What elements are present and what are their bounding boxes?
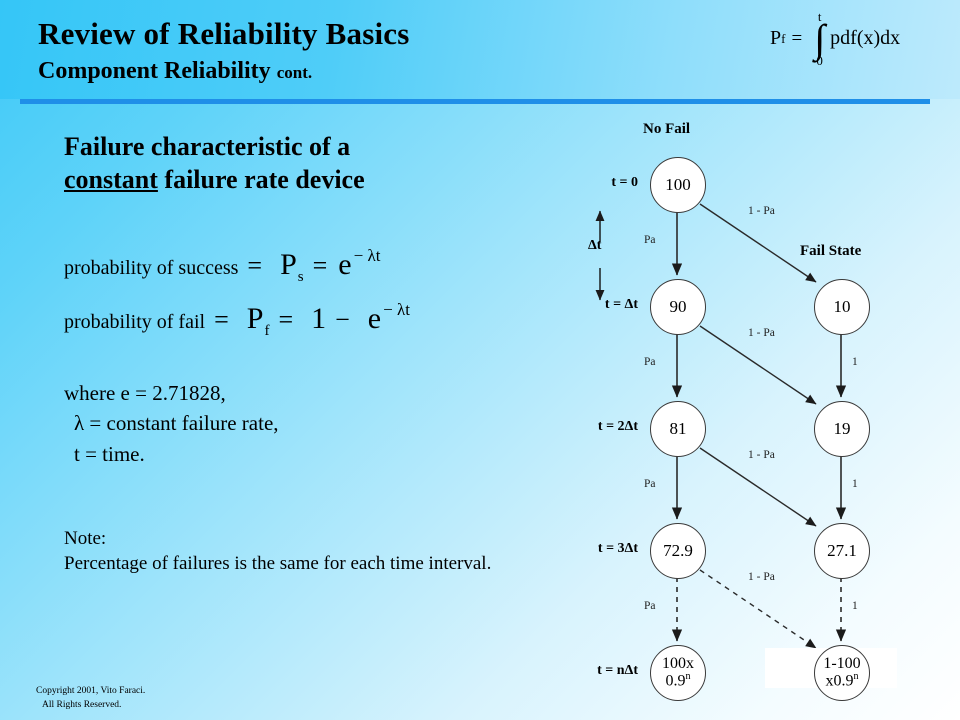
note-text: Percentage of failures is the same for e… [64, 551, 504, 576]
time-label-1: t = Δt [560, 297, 638, 313]
edge-label-absorb-1: 1 [852, 356, 858, 368]
node-fail-tn-base: x0.9 [826, 673, 854, 690]
node-no-fail-t3[interactable]: 72.9 [650, 523, 706, 579]
eq-success-equals-1: = [247, 251, 262, 281]
lead-line2-rest: failure rate device [158, 165, 365, 194]
eq-success-base: e [338, 248, 351, 282]
eq-fail-minus: − [335, 305, 350, 335]
page-title: Review of Reliability Basics [38, 16, 410, 52]
column-header-no-fail: No Fail [643, 121, 690, 138]
eq-fail-exponent: − λt [383, 300, 410, 320]
eq-fail-base: e [368, 302, 381, 336]
node-fail-tn[interactable]: 1-100 x0.9n [814, 645, 870, 701]
formula-equals: = [791, 28, 802, 50]
definition-lambda: λ = constant failure rate, [74, 411, 279, 435]
eq-success-equals-2: = [313, 251, 328, 281]
edge-label-survive-3: Pa [644, 478, 656, 490]
node-no-fail-tn-exponent: n [686, 671, 691, 682]
lead-line1: Failure characteristic of a [64, 132, 350, 161]
note-title: Note: [64, 526, 504, 551]
page-subtitle: Component Reliability cont. [38, 58, 312, 85]
slide-canvas: Review of Reliability Basics Component R… [0, 0, 960, 720]
definition-e: where e = 2.71828, [64, 378, 534, 408]
eq-success-words: probability of success [64, 257, 238, 280]
interval-label: Δt [588, 238, 601, 254]
header-formula: Pf = t ∫ 0 pdf(x)dx [770, 10, 900, 67]
eq-success-symbol: P [280, 248, 297, 282]
edge-label-fail-1: 1 - Pa [748, 205, 775, 217]
node-no-fail-t1[interactable]: 90 [650, 279, 706, 335]
node-fail-t1[interactable]: 10 [814, 279, 870, 335]
time-label-3: t = 3Δt [560, 541, 638, 557]
column-header-fail-state: Fail State [800, 243, 861, 260]
copyright-notice: Copyright 2001, Vito Faraci. All Rights … [36, 685, 145, 713]
edge-label-fail-4: 1 - Pa [748, 571, 775, 583]
edge-label-absorb-2: 1 [852, 478, 858, 490]
eq-fail-symbol: P [247, 302, 264, 336]
edge-label-absorb-3: 1 [852, 600, 858, 612]
integral-group: t ∫ 0 [814, 10, 825, 67]
node-fail-tn-exponent: n [854, 671, 859, 682]
eq-fail-equals-2: = [278, 305, 293, 335]
header-divider [20, 99, 930, 104]
note-block: Note: Percentage of failures is the same… [64, 526, 504, 577]
node-fail-t2[interactable]: 19 [814, 401, 870, 457]
formula-lhs: P [770, 27, 781, 50]
edge-label-survive-1: Pa [644, 234, 656, 246]
edge-label-fail-2: 1 - Pa [748, 327, 775, 339]
node-fail-t3[interactable]: 27.1 [814, 523, 870, 579]
node-no-fail-tn-line1: 100x [662, 656, 694, 673]
formula-integrand: pdf(x)dx [830, 27, 900, 50]
integral-sign: ∫ [814, 23, 825, 54]
eq-fail-words: probability of fail [64, 311, 205, 334]
time-label-2: t = 2Δt [560, 419, 638, 435]
integral-lower-limit: 0 [816, 54, 823, 67]
slide-header: Review of Reliability Basics Component R… [0, 0, 960, 99]
eq-fail-subscript: f [264, 323, 269, 340]
edge-label-fail-3: 1 - Pa [748, 449, 775, 461]
equation-probability-success: probability of success = Ps = e− λt [64, 248, 380, 282]
eq-success-subscript: s [298, 269, 304, 286]
edge-fail-group [700, 204, 816, 526]
page-subtitle-main: Component Reliability [38, 58, 271, 84]
eq-fail-one: 1 [311, 302, 326, 336]
time-label-0: t = 0 [560, 175, 638, 191]
definitions-block: where e = 2.71828, λ = constant failure … [64, 378, 534, 469]
node-no-fail-t2[interactable]: 81 [650, 401, 706, 457]
page-subtitle-suffix: cont. [277, 63, 312, 82]
lead-underlined-word: constant [64, 165, 158, 194]
equation-probability-fail: probability of fail = Pf = 1 − e− λt [64, 302, 410, 336]
node-no-fail-tn[interactable]: 100x 0.9n [650, 645, 706, 701]
definition-t: t = time. [74, 442, 145, 466]
edge-label-survive-2: Pa [644, 356, 656, 368]
node-no-fail-t0[interactable]: 100 [650, 157, 706, 213]
eq-fail-equals-1: = [214, 305, 229, 335]
diagram-edges [560, 110, 960, 720]
eq-success-exponent: − λt [354, 246, 381, 266]
time-label-n: t = nΔt [560, 663, 638, 679]
state-transition-diagram: No Fail Fail State t = 0 Δt t = Δt t = 2… [560, 110, 960, 720]
node-no-fail-tn-base: 0.9 [666, 673, 686, 690]
node-fail-tn-line2: x0.9n [826, 672, 859, 690]
lead-statement: Failure characteristic of a constant fai… [64, 130, 534, 197]
copyright-line-2: All Rights Reserved. [36, 699, 145, 713]
node-fail-tn-line1: 1-100 [823, 656, 860, 673]
formula-lhs-subscript: f [781, 31, 785, 47]
copyright-line-1: Copyright 2001, Vito Faraci. [36, 685, 145, 699]
node-no-fail-tn-line2: 0.9n [666, 672, 691, 690]
edge-label-survive-4: Pa [644, 600, 656, 612]
